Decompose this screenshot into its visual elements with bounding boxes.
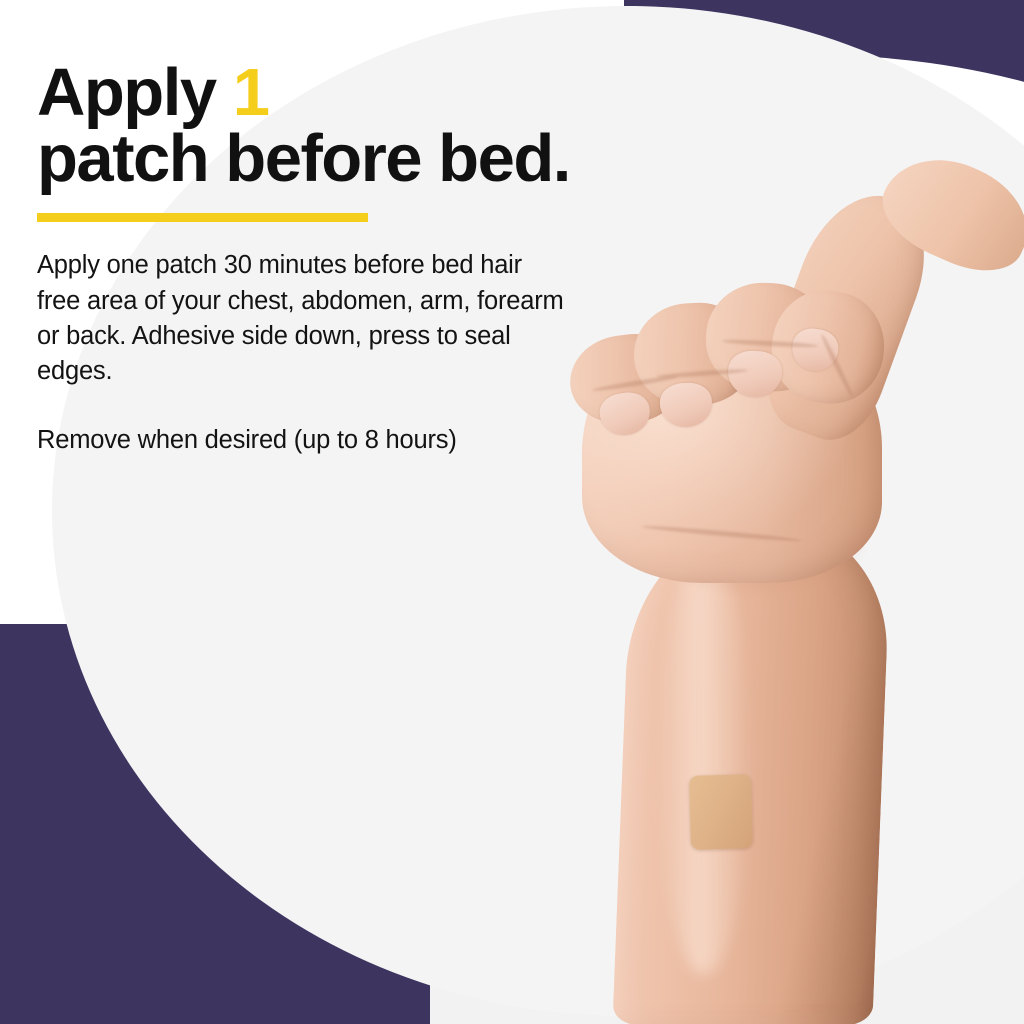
forearm-highlight [658,545,750,975]
headline-prefix: Apply [37,55,233,130]
instruction-graphic: Apply 1 patch before bed. Apply one patc… [0,0,1024,1024]
forearm [612,525,891,1024]
copy-block: Apply 1 patch before bed. Apply one patc… [37,60,697,458]
removal-note: Remove when desired (up to 8 hours) [37,423,567,458]
purple-shape-bottom-left [0,624,430,1024]
headline: Apply 1 patch before bed. [37,60,697,191]
yellow-underline-rule [37,213,368,222]
headline-quantity: 1 [233,55,269,130]
headline-line-2: patch before bed. [37,121,570,196]
headline-line-1: Apply 1 [37,55,269,130]
paragraph-spacer [37,389,567,423]
body-copy: Apply one patch 30 minutes before bed ha… [37,222,567,458]
instruction-paragraph: Apply one patch 30 minutes before bed ha… [37,248,567,389]
adhesive-patch [689,774,753,850]
